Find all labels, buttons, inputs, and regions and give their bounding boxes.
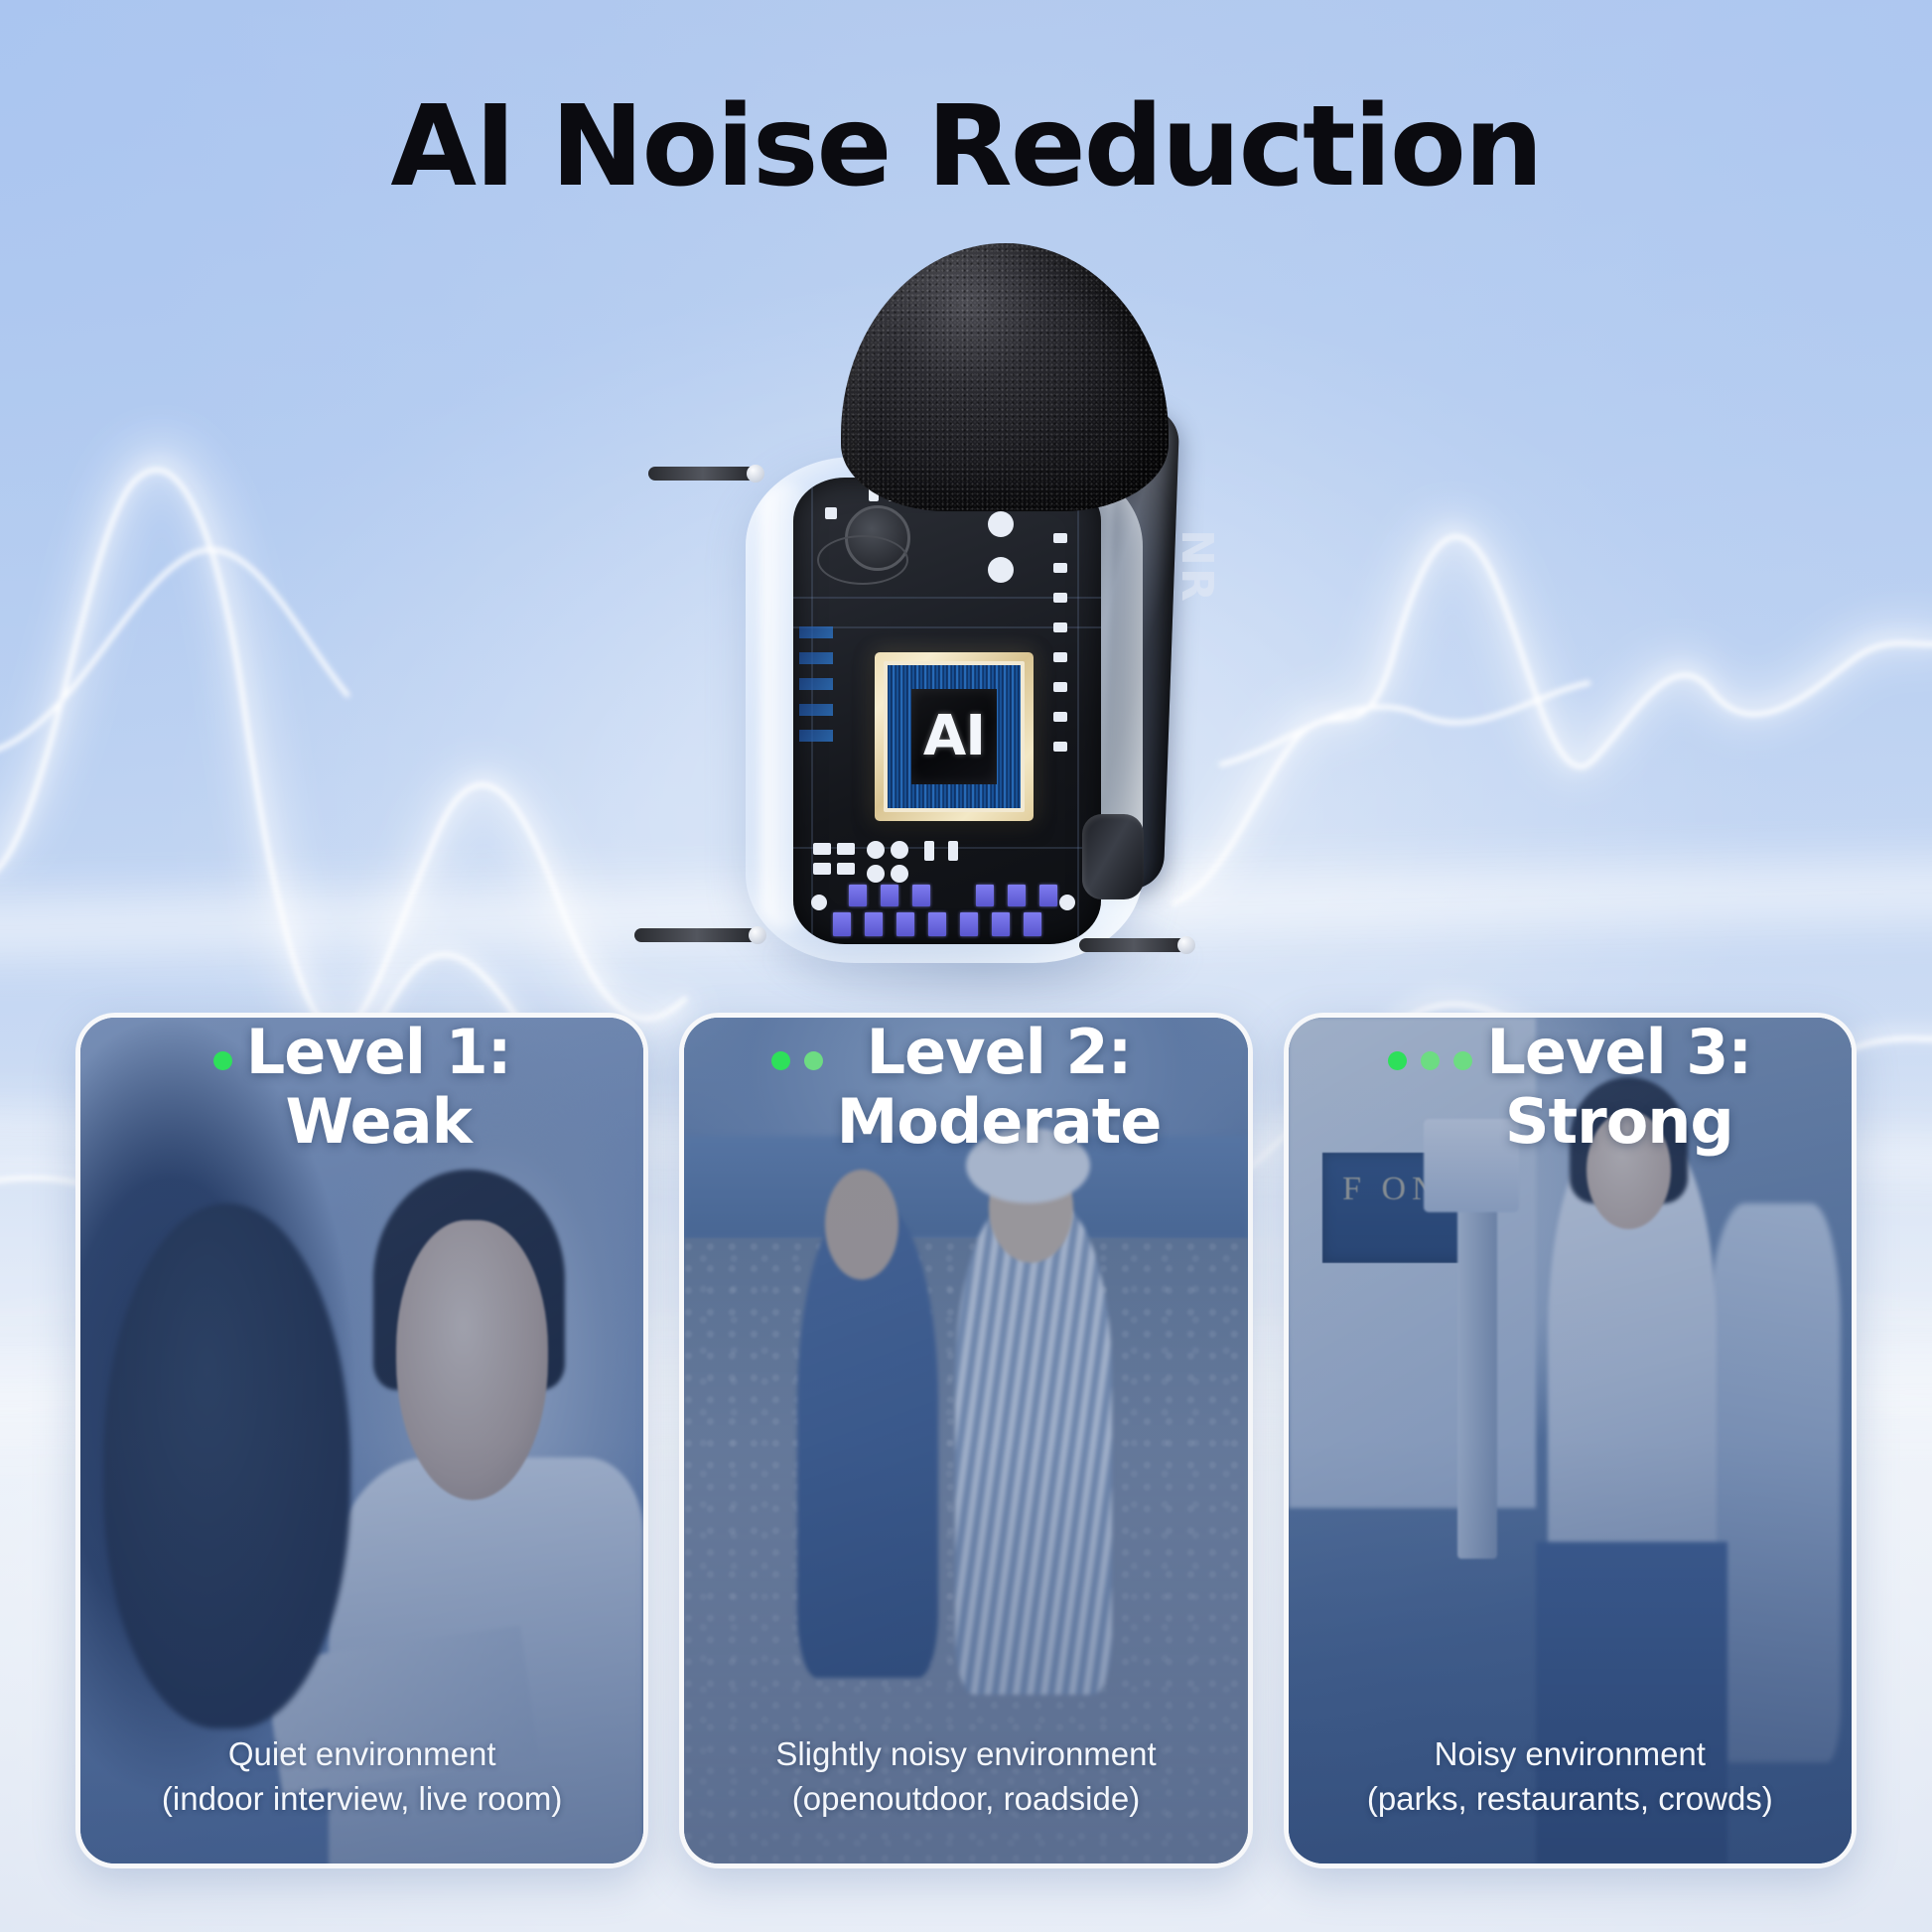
level-dot <box>1388 1051 1407 1070</box>
card-heading-row: Level 3: Strong <box>1307 1018 1834 1157</box>
ai-chip-die: AI <box>911 689 997 783</box>
card-caption-line2: (indoor interview, live room) <box>98 1777 625 1822</box>
microphone-side-button[interactable] <box>1082 814 1144 899</box>
card-caption-line1: Noisy environment <box>1307 1732 1834 1777</box>
card-caption-line1: Slightly noisy environment <box>702 1732 1229 1777</box>
card-level-line2: Moderate <box>837 1085 1162 1158</box>
microphone-circuit-board: AI <box>793 478 1101 944</box>
level-dot <box>1421 1051 1440 1070</box>
card-heading-row: Level 1: Weak <box>98 1018 625 1157</box>
page-title: AI Noise Reduction <box>0 91 1932 203</box>
level-indicator-dots <box>213 1018 232 1070</box>
card-level-line1: Level 1: <box>246 1016 511 1088</box>
card-level-3[interactable]: Level 3: Strong Noisy environment (parks… <box>1284 1013 1857 1868</box>
nr-marking: NR <box>1172 529 1222 604</box>
card-level-title: Level 3: Strong <box>1486 1018 1751 1157</box>
microphone-windscreen-foam <box>841 243 1169 511</box>
card-level-title: Level 1: Weak <box>246 1018 511 1157</box>
card-level-2[interactable]: Level 2: Moderate Slightly noisy environ… <box>679 1013 1252 1868</box>
level-dot <box>213 1051 232 1070</box>
level-indicator-dots <box>771 1018 823 1070</box>
level-dot <box>1453 1051 1472 1070</box>
card-level-line1: Level 3: <box>1486 1016 1751 1088</box>
pcb-pin-bottom-right <box>1079 938 1188 952</box>
pcb-ring-outer <box>817 535 908 585</box>
ai-chip-substrate: AI <box>884 661 1025 812</box>
card-level-title: Level 2: Moderate <box>837 1018 1162 1157</box>
card-level-1[interactable]: Level 1: Weak Quiet environment (indoor … <box>75 1013 648 1868</box>
card-caption-line2: (openoutdoor, roadside) <box>702 1777 1229 1822</box>
card-caption: Noisy environment (parks, restaurants, c… <box>1307 1637 1834 1822</box>
level-indicator-dots <box>1388 1018 1472 1070</box>
noise-reduction-level-cards: Level 1: Weak Quiet environment (indoor … <box>75 1013 1857 1868</box>
card-caption-line2: (parks, restaurants, crowds) <box>1307 1777 1834 1822</box>
level-dot <box>804 1051 823 1070</box>
card-caption: Quiet environment (indoor interview, liv… <box>98 1637 625 1822</box>
card-heading-row: Level 2: Moderate <box>702 1018 1229 1157</box>
pcb-pin-bottom <box>634 928 759 942</box>
card-caption-line1: Quiet environment <box>98 1732 625 1777</box>
level-dot <box>771 1051 790 1070</box>
pcb-pin-top <box>648 467 758 481</box>
card-caption: Slightly noisy environment (openoutdoor,… <box>702 1637 1229 1822</box>
ai-processor-chip: AI <box>875 652 1034 821</box>
ai-chip-label: AI <box>923 709 985 764</box>
product-image-microphone: NR <box>730 243 1256 988</box>
card-level-line2: Strong <box>1505 1085 1733 1158</box>
card-level-line2: Weak <box>286 1085 472 1158</box>
card-level-line1: Level 2: <box>867 1016 1132 1088</box>
